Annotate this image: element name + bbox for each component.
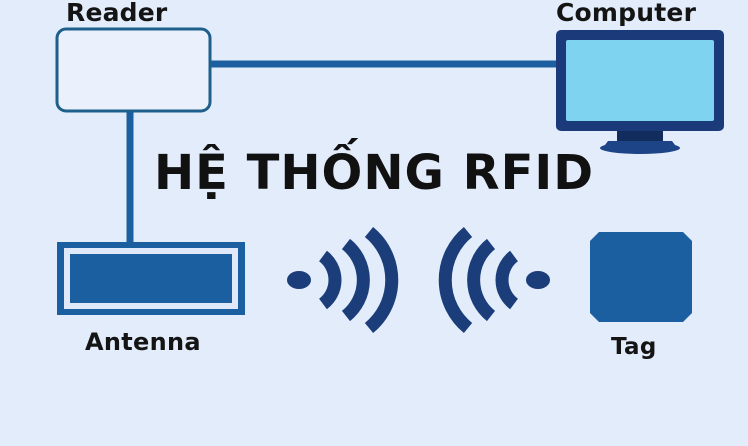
monitor-screen [566,40,714,121]
signal-left-dot [287,271,311,289]
signal-right-icon [445,232,550,328]
signal-right-arc-3 [445,232,468,328]
diagram-title: HỆ THỐNG RFID [0,148,748,198]
computer-monitor [556,30,724,154]
diagram-graphics [0,0,748,446]
signal-right-arc-2 [474,244,491,316]
tag-label: Tag [611,336,657,359]
signal-right-arc-1 [502,256,514,304]
reader-box [57,29,210,111]
signal-left-icon [287,232,392,328]
signal-left-arc-3 [369,232,392,328]
rfid-diagram-canvas: Reader Computer Antenna Tag HỆ THỐNG RFI… [0,0,748,446]
antenna-label: Antenna [85,330,201,354]
reader-label: Reader [66,0,167,25]
signal-left-arc-1 [323,256,335,304]
signal-right-dot [526,271,550,289]
signal-left-arc-2 [346,244,363,316]
tag-shape [590,232,692,322]
antenna-panel [57,242,245,315]
computer-label: Computer [556,0,696,25]
